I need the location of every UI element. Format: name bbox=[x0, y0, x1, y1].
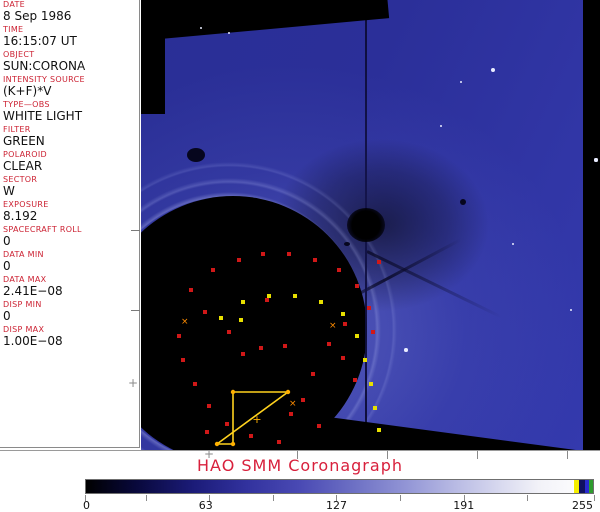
colorbar-label: 63 bbox=[199, 500, 213, 512]
colorbar-label: 191 bbox=[453, 500, 474, 512]
metadata-value: 0 bbox=[3, 259, 140, 273]
colorbar-tick bbox=[400, 495, 401, 501]
metadata-list: DATE8 Sep 1986TIME16:15:07 UTOBJECTSUN:C… bbox=[0, 0, 140, 348]
metadata-value: 0 bbox=[3, 234, 140, 248]
metadata-value: GREEN bbox=[3, 134, 140, 148]
colorbar-label: 255 bbox=[572, 500, 593, 512]
metadata-label: TIME bbox=[3, 25, 140, 34]
polygon-annotation[interactable]: + bbox=[141, 0, 600, 450]
polygon-vertex[interactable] bbox=[231, 442, 235, 446]
metadata-label: DATE bbox=[3, 0, 140, 9]
metadata-value: CLEAR bbox=[3, 159, 140, 173]
metadata-label: FILTER bbox=[3, 125, 140, 134]
polygon-vertex[interactable] bbox=[215, 442, 219, 446]
colorbar-tick bbox=[146, 495, 147, 501]
colorbar-label: 127 bbox=[326, 500, 347, 512]
metadata-label: SECTOR bbox=[3, 175, 140, 184]
metadata-value: W bbox=[3, 184, 140, 198]
polygon-vertex[interactable] bbox=[231, 390, 235, 394]
metadata-value: 1.00E−08 bbox=[3, 334, 140, 348]
metadata-value: (K+F)*V bbox=[3, 84, 140, 98]
green-band bbox=[589, 480, 593, 493]
coronagraph-image[interactable]: ××× + bbox=[141, 0, 600, 450]
metadata-label: DATA MIN bbox=[3, 250, 140, 259]
colorbar-tick bbox=[273, 495, 274, 501]
metadata-value: 2.41E−08 bbox=[3, 284, 140, 298]
metadata-label: OBJECT bbox=[3, 50, 140, 59]
metadata-label: EXPOSURE bbox=[3, 200, 140, 209]
metadata-sidebar: DATE8 Sep 1986TIME16:15:07 UTOBJECTSUN:C… bbox=[0, 0, 140, 447]
metadata-label: TYPE—OBS bbox=[3, 100, 140, 109]
coronagraph-viewer: DATE8 Sep 1986TIME16:15:07 UTOBJECTSUN:C… bbox=[0, 0, 600, 512]
metadata-label: SPACECRAFT ROLL bbox=[3, 225, 140, 234]
sidebar-divider bbox=[139, 0, 140, 447]
axis-bottom-rule bbox=[0, 450, 600, 451]
metadata-label: DISP MAX bbox=[3, 325, 140, 334]
colorbar-tick bbox=[527, 495, 528, 501]
colorbar-gradient bbox=[86, 480, 573, 493]
colorbar-tick bbox=[594, 495, 595, 501]
axis-tick-left bbox=[131, 310, 140, 311]
metadata-label: INTENSITY SOURCE bbox=[3, 75, 140, 84]
metadata-label: DISP MIN bbox=[3, 300, 140, 309]
colorbar[interactable] bbox=[85, 479, 594, 494]
axis-tick-left bbox=[131, 230, 140, 231]
metadata-value: SUN:CORONA bbox=[3, 59, 140, 73]
polygon-center-plus: + bbox=[252, 413, 261, 426]
sidebar-bottom-rule bbox=[0, 447, 140, 448]
metadata-value: 8.192 bbox=[3, 209, 140, 223]
page-title: HAO SMM Coronagraph bbox=[0, 456, 600, 475]
metadata-label: POLAROID bbox=[3, 150, 140, 159]
polygon-vertex[interactable] bbox=[286, 390, 290, 394]
metadata-label: DATA MAX bbox=[3, 275, 140, 284]
axis-plus-left: + bbox=[128, 377, 138, 389]
metadata-value: 0 bbox=[3, 309, 140, 323]
colorbar-label: 0 bbox=[83, 500, 90, 512]
metadata-value: WHITE LIGHT bbox=[3, 109, 140, 123]
metadata-value: 16:15:07 UT bbox=[3, 34, 140, 48]
metadata-value: 8 Sep 1986 bbox=[3, 9, 140, 23]
